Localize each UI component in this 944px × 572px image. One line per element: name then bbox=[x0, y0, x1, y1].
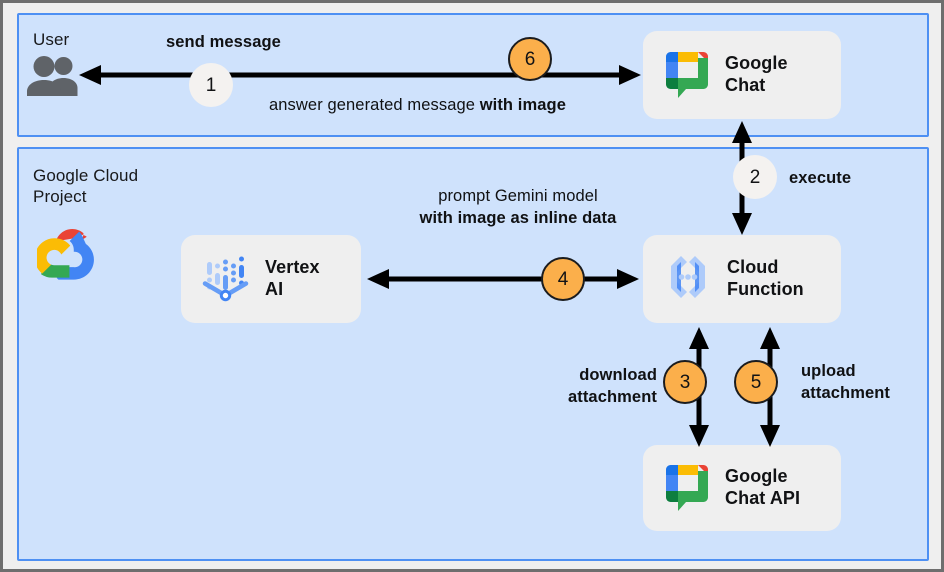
architecture-diagram: User send message answer generated messa… bbox=[0, 0, 944, 572]
vertex-ai-logo-icon bbox=[199, 250, 253, 309]
card-vertex-ai-label: Vertex AI bbox=[265, 257, 320, 300]
label-download-attachment: download attachment bbox=[503, 364, 657, 409]
card-google-chat-api[interactable]: Google Chat API bbox=[643, 445, 841, 531]
panel-google-cloud-project-title: Google Cloud Project bbox=[33, 165, 138, 208]
card-google-chat-api-label: Google Chat API bbox=[725, 466, 800, 509]
arrow-user-google-chat bbox=[77, 61, 643, 89]
google-chat-logo-icon bbox=[661, 460, 713, 517]
label-answer-generated-message: answer generated message with image bbox=[269, 94, 566, 116]
arrow-vertex-ai-cloud-function bbox=[365, 265, 641, 293]
card-google-chat[interactable]: Google Chat bbox=[643, 31, 841, 119]
label-answer-bold: with image bbox=[480, 96, 566, 114]
step-badge-4: 4 bbox=[541, 257, 585, 301]
label-upload-attachment: upload attachment bbox=[801, 360, 931, 405]
label-execute: execute bbox=[789, 167, 851, 189]
card-google-chat-label: Google Chat bbox=[725, 53, 788, 96]
google-chat-logo-icon bbox=[661, 47, 713, 104]
step-badge-5: 5 bbox=[734, 360, 778, 404]
panel-user-title: User bbox=[33, 29, 69, 50]
users-icon bbox=[25, 55, 81, 99]
label-answer-prefix: answer generated message bbox=[269, 96, 480, 114]
label-send-message: send message bbox=[166, 31, 281, 53]
label-prompt-bold: with image as inline data bbox=[420, 209, 617, 227]
google-cloud-logo-icon bbox=[37, 225, 109, 283]
card-vertex-ai[interactable]: Vertex AI bbox=[181, 235, 361, 323]
card-cloud-function[interactable]: Cloud Function bbox=[643, 235, 841, 323]
label-prompt-gemini-model: prompt Gemini model with image as inline… bbox=[413, 185, 623, 230]
label-prompt-prefix: prompt Gemini model bbox=[438, 187, 598, 205]
step-badge-1: 1 bbox=[189, 63, 233, 107]
step-badge-3: 3 bbox=[663, 360, 707, 404]
step-badge-6: 6 bbox=[508, 37, 552, 81]
cloud-function-logo-icon bbox=[661, 250, 715, 309]
step-badge-2: 2 bbox=[733, 155, 777, 199]
card-cloud-function-label: Cloud Function bbox=[727, 257, 804, 300]
